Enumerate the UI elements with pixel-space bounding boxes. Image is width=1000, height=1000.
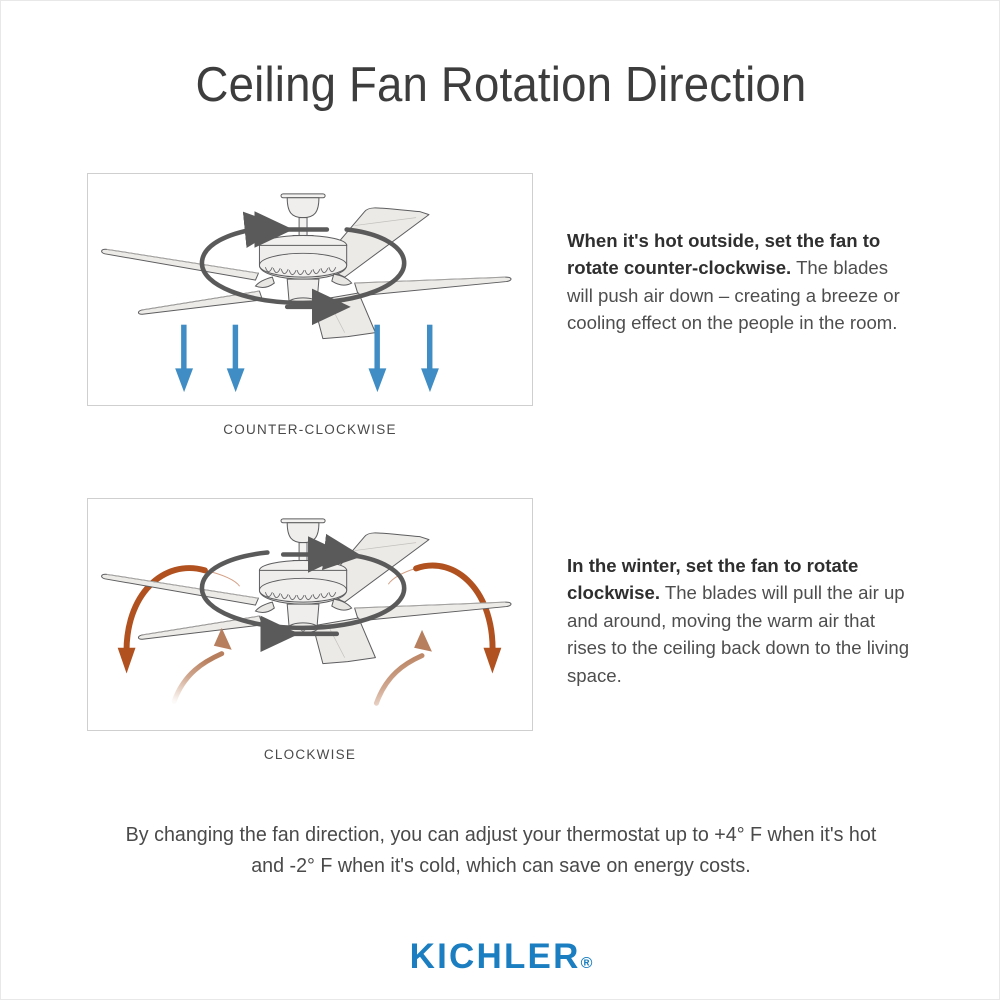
page-title: Ceiling Fan Rotation Direction [36,57,966,113]
infographic-page: Ceiling Fan Rotation Direction [0,0,1000,1000]
diagram-clockwise [87,498,533,731]
airflow-arrow [175,325,193,392]
warm-airflow-arcs-up [174,654,422,704]
caption-counter-clockwise: COUNTER-CLOCKWISE [87,422,533,437]
warm-airflow-arrowhead-left [118,648,136,674]
description-counter-clockwise: When it's hot outside, set the fan to ro… [567,227,917,337]
description-clockwise: In the winter, set the fan to rotate clo… [567,552,917,689]
caption-clockwise: CLOCKWISE [87,747,533,762]
brand-wordmark: KICHLER [410,937,581,976]
airflow-arrow [368,325,386,392]
energy-savings-note: By changing the fan direction, you can a… [117,819,885,881]
warm-airflow-arrowhead-right [483,648,501,674]
registered-trademark-icon: ® [581,955,593,972]
airflow-arrows-down [175,325,439,392]
fan-canopy [281,519,325,565]
airflow-arrow [421,325,439,392]
brand-logo: KICHLER® [1,937,1000,977]
diagram-counter-clockwise [87,173,533,406]
fan-canopy [281,194,325,240]
airflow-arrow [227,325,245,392]
